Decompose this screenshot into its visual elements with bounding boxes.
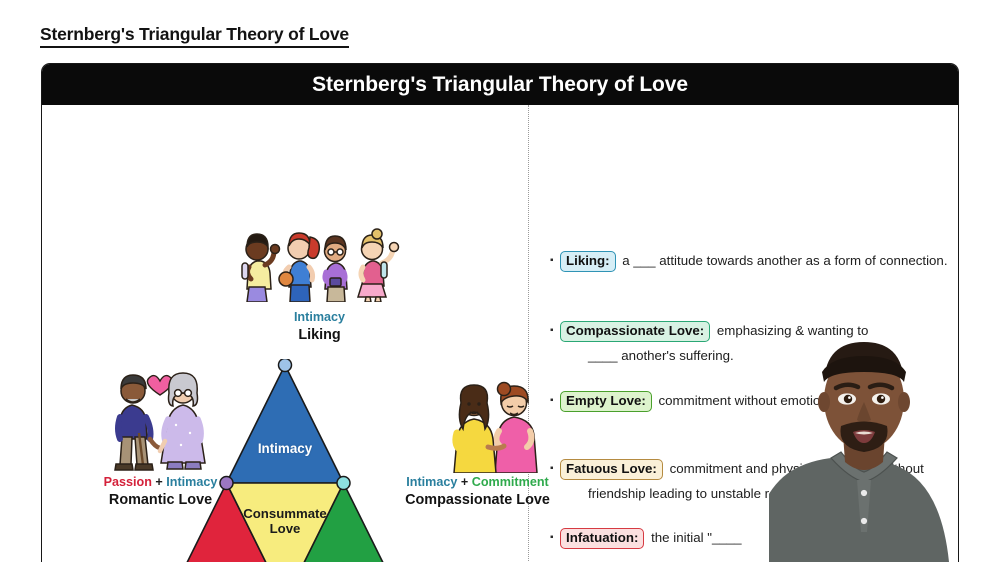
note-tag-compassionate: Compassionate Love: — [560, 321, 710, 342]
caption-liking: Intimacy Liking — [227, 310, 412, 344]
note-text-infatuation: the initial "____ — [647, 530, 741, 545]
vertex-dot-compassionate — [337, 477, 350, 490]
note-tag-fatuous: Fatuous Love: — [560, 459, 663, 480]
triangle-region-intimacy — [227, 365, 344, 483]
vertex-dot-romantic — [220, 477, 233, 490]
vertex-dot-intimacy — [279, 359, 292, 372]
note-tag-infatuation: Infatuation: — [560, 528, 644, 549]
note-text-compassionate: emphasizing & wanting to — [713, 323, 868, 338]
caption-liking-name: Liking — [227, 327, 412, 344]
slide-title: Sternberg's Triangular Theory of Love — [312, 73, 688, 97]
note-item-liking: ▪Liking: a ___ attitude towards another … — [550, 251, 956, 272]
love-triangle-graphic: Intimacy Passion Commitment Consummate L… — [168, 359, 402, 562]
bullet-icon: ▪ — [550, 531, 560, 546]
triangle-diagram-pane: Intimacy Liking — [42, 105, 528, 562]
caption-liking-combo: Intimacy — [227, 310, 412, 325]
note-tag-empty: Empty Love: — [560, 391, 652, 412]
bullet-icon: ▪ — [550, 254, 560, 269]
bullet-icon: ▪ — [550, 324, 560, 339]
bullet-icon: ▪ — [550, 394, 560, 409]
note-text-liking: a ___ attitude towards another as a form… — [619, 253, 948, 268]
bullet-icon: ▪ — [550, 462, 560, 477]
page-title: Sternberg's Triangular Theory of Love — [40, 24, 349, 48]
presenter-video-overlay[interactable] — [769, 338, 959, 562]
note-tag-liking: Liking: — [560, 251, 616, 272]
slide-title-bar: Sternberg's Triangular Theory of Love — [42, 64, 958, 105]
group-of-teens-illustration — [227, 217, 412, 302]
